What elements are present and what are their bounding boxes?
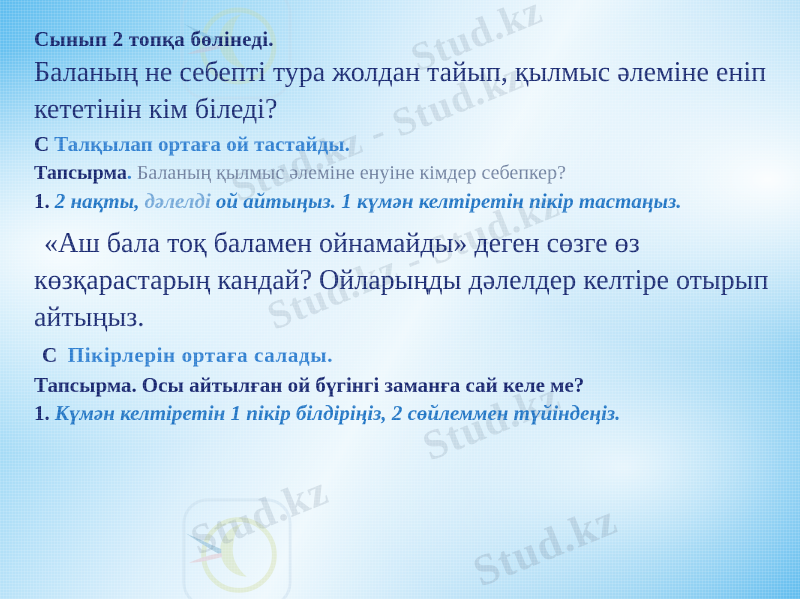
- marker-c-description: Талқылап ортаға ой тастайды.: [54, 132, 350, 156]
- instruction-part-b: дәлелді: [144, 189, 210, 213]
- task-body: Баланың қылмыс әлеміне енуіне кімдер себ…: [137, 162, 566, 184]
- question-paragraph-1: Баланың не себепті тура жолдан тайып, қы…: [34, 54, 778, 128]
- numbered-instruction-1: 1.2 нақты,дәлелдіой айтыңыз. 1 күмән кел…: [34, 188, 778, 215]
- slide-heading: Сынып 2 топқа бөлінеді.: [34, 27, 778, 52]
- task-line-1: Тапсырма.Баланың қылмыс әлеміне енуіне к…: [34, 160, 778, 187]
- marker-letter-c: С: [42, 343, 58, 367]
- marker-letter-c: С: [34, 132, 49, 156]
- task-body: Осы айтылған ой бүгінгі заманға сай келе…: [142, 373, 585, 397]
- hummingbird-logo-icon: [178, 494, 296, 599]
- slide-content: Сынып 2 топқа бөлінеді. Баланың не себеп…: [34, 27, 778, 428]
- list-number: 1.: [34, 189, 50, 213]
- task-line-2: Тапсырма.Осы айтылған ой бүгінгі заманға…: [34, 371, 778, 399]
- task-label-dot: .: [127, 162, 132, 184]
- marker-c-description: Пікірлерін ортаға салады.: [68, 343, 333, 367]
- watermark-text: Stud.kz: [184, 467, 335, 565]
- question-paragraph-2: «Аш бала тоқ баламен ойнамайды» деген сө…: [34, 225, 778, 337]
- slide-canvas: Stud.kz Stud.kz - Stud.kz Stud.kz - Stud…: [0, 0, 800, 599]
- watermark-text: Stud.kz: [466, 494, 624, 598]
- instruction-part-c: ой айтыңыз. 1 күмән келтіретін пікір тас…: [216, 189, 682, 213]
- structure-marker-line-2: СПікірлерін ортаға салады.: [34, 341, 778, 369]
- list-number: 1.: [34, 401, 50, 425]
- structure-marker-line-1: СТалқылап ортаға ой тастайды.: [34, 130, 778, 158]
- task-label: Тапсырма.: [34, 373, 137, 397]
- numbered-instruction-2: 1.Күмән келтіретін 1 пікір білдіріңіз, 2…: [34, 400, 778, 427]
- task-label: Тапсырма: [34, 162, 127, 184]
- instruction-part-a: 2 нақты,: [55, 189, 140, 213]
- instruction-text: Күмән келтіретін 1 пікір білдіріңіз, 2 с…: [55, 401, 621, 425]
